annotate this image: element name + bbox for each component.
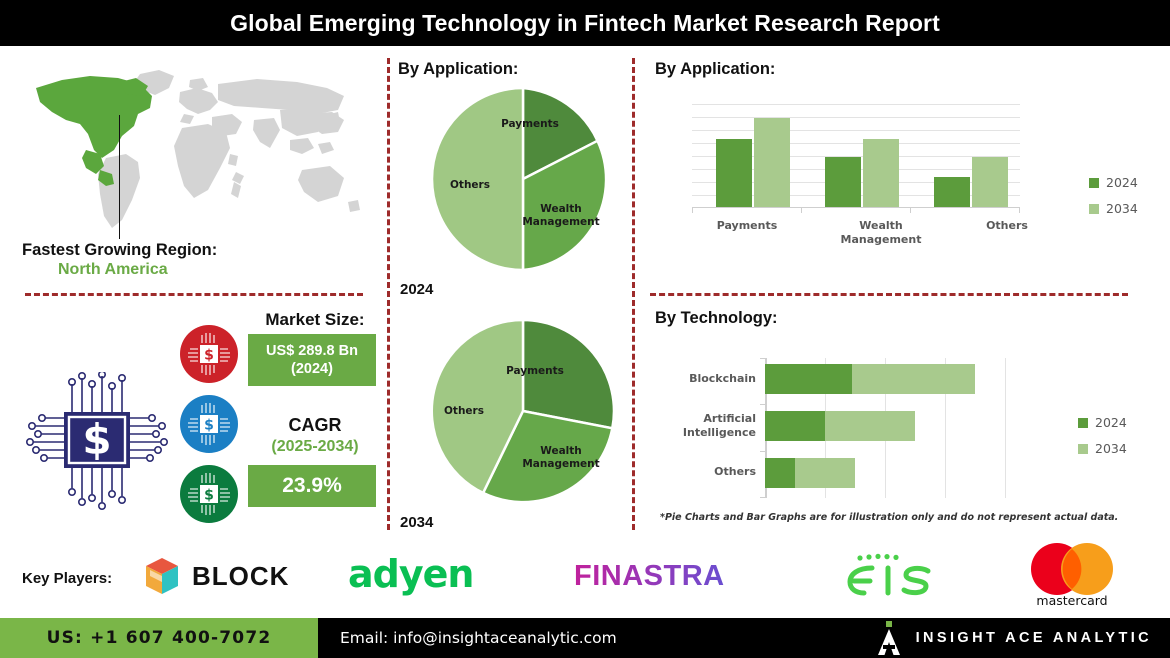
map-pointer-line xyxy=(119,115,120,239)
tech-2024-ai xyxy=(765,411,825,441)
finastra-logo-text: FINASTRA xyxy=(574,560,725,592)
page-title: Global Emerging Technology in Fintech Ma… xyxy=(0,0,1170,46)
footer-phone-block: US: +1 607 400-7072 xyxy=(0,618,318,658)
key-players-label: Key Players: xyxy=(22,570,112,587)
legend-item-2024: 2024 xyxy=(1089,175,1138,190)
bar-2024-payments xyxy=(716,139,752,207)
bar-tick xyxy=(1019,208,1020,213)
pie-2024-year: 2024 xyxy=(400,281,433,298)
chip-dollar-icon: $ xyxy=(12,372,182,512)
bar-2024-others xyxy=(934,177,970,207)
bar-tick xyxy=(801,208,802,213)
adyen-logo-text: adyen xyxy=(348,552,473,596)
logo-mastercard: mastercard xyxy=(1012,541,1132,613)
logo-finastra: FINASTRA xyxy=(574,560,725,593)
tech-cat-ai: Artificial Intelligence xyxy=(650,412,756,440)
tech-cat-others: Others xyxy=(650,465,756,479)
svg-text:$: $ xyxy=(82,415,111,464)
svg-text:$: $ xyxy=(204,348,214,364)
divider-horizontal-left xyxy=(25,293,363,296)
coin-icon-green: $ xyxy=(180,465,238,523)
infographic-page: Global Emerging Technology in Fintech Ma… xyxy=(0,0,1170,658)
footer-phone: US: +1 607 400-7072 xyxy=(47,628,272,648)
pie-section-heading: By Application: xyxy=(398,60,518,79)
tech-2034-blockchain xyxy=(852,364,975,394)
tech-tick xyxy=(760,497,765,498)
pie-2024-label-others: Others xyxy=(440,179,500,192)
tech-legend-item-2034: 2034 xyxy=(1078,441,1127,456)
bar-cat-payments: Payments xyxy=(692,219,802,233)
header-bar: Global Emerging Technology in Fintech Ma… xyxy=(0,0,1170,46)
tech-legend-label-2034: 2034 xyxy=(1095,441,1127,456)
tech-legend-swatch-2034 xyxy=(1078,444,1088,454)
pie-2034-label-payments: Payments xyxy=(500,365,570,378)
bar-cat-others: Others xyxy=(952,219,1062,233)
legend-label-2024: 2024 xyxy=(1106,175,1138,190)
tech-2034-ai xyxy=(825,411,915,441)
footer-email: Email: info@insightaceanalytic.com xyxy=(340,618,617,658)
tech-chart-legend: 2024 2034 xyxy=(1078,415,1127,467)
bar-chart-by-technology xyxy=(765,358,1023,498)
chart-footnote: *Pie Charts and Bar Graphs are for illus… xyxy=(660,512,1120,523)
fis-logo-icon xyxy=(836,552,946,600)
pie-2034-label-wealth: Wealth Management xyxy=(518,445,604,471)
insight-ace-logo-icon xyxy=(876,621,902,655)
pie-2034-label-others: Others xyxy=(434,405,494,418)
bar-cat-wealth: Wealth Management xyxy=(826,219,936,247)
fastest-growing-region: Fastest Growing Region: North America xyxy=(22,240,367,280)
mastercard-logo-text: mastercard xyxy=(1012,593,1132,608)
fastest-region-caption: Fastest Growing Region: xyxy=(22,240,367,260)
tech-legend-item-2024: 2024 xyxy=(1078,415,1127,430)
bar-2034-wealth xyxy=(863,139,899,207)
tech-row-others xyxy=(765,458,855,488)
coin-icon-blue: $ xyxy=(180,395,238,453)
tech-legend-swatch-2024 xyxy=(1078,418,1088,428)
market-size-label: Market Size: xyxy=(243,310,387,330)
divider-horizontal-right xyxy=(650,293,1128,296)
divider-vertical-left xyxy=(387,58,390,530)
tech-legend-label-2024: 2024 xyxy=(1095,415,1127,430)
footer-brand: INSIGHT ACE ANALYTIC xyxy=(876,618,1152,658)
svg-text:$: $ xyxy=(204,488,214,504)
fastest-region-name: North America xyxy=(22,260,367,280)
coin-icon-red: $ xyxy=(180,325,238,383)
market-size-value: US$ 289.8 Bn xyxy=(266,342,358,360)
legend-label-2034: 2034 xyxy=(1106,201,1138,216)
mastercard-logo-icon xyxy=(1012,541,1132,597)
tech-cat-blockchain: Blockchain xyxy=(650,372,756,386)
pie-2034-year: 2034 xyxy=(400,514,433,531)
tech-row-blockchain xyxy=(765,364,975,394)
pie-2024-label-wealth: Wealth Management xyxy=(518,203,604,229)
legend-swatch-2034 xyxy=(1089,204,1099,214)
market-size-year: (2024) xyxy=(291,360,333,378)
logo-adyen: adyen xyxy=(348,552,473,596)
bar-2024-wealth xyxy=(825,157,861,207)
logo-fis: FIS xyxy=(836,552,946,600)
bar-section-heading: By Application: xyxy=(655,60,775,79)
cagr-years: (2025-2034) xyxy=(243,438,387,456)
tech-tick xyxy=(760,451,765,452)
footer-bar: US: +1 607 400-7072 Email: info@insighta… xyxy=(0,618,1170,658)
bar-chart-legend: 2024 2034 xyxy=(1089,175,1138,227)
tech-tick xyxy=(760,358,765,359)
block-logo-text: BLOCK xyxy=(192,561,289,592)
bar-tick xyxy=(910,208,911,213)
market-size-value-box: US$ 289.8 Bn (2024) xyxy=(248,334,376,386)
legend-item-2034: 2034 xyxy=(1089,201,1138,216)
tech-section-heading: By Technology: xyxy=(655,309,778,328)
tech-2034-others xyxy=(795,458,855,488)
cagr-value-box: 23.9% xyxy=(248,465,376,507)
tech-row-ai xyxy=(765,411,915,441)
world-map xyxy=(22,62,367,237)
bar-2034-others xyxy=(972,157,1008,207)
bar-2034-payments xyxy=(754,118,790,207)
pie-2024-label-payments: Payments xyxy=(495,118,565,131)
legend-swatch-2024 xyxy=(1089,178,1099,188)
svg-text:$: $ xyxy=(204,418,214,434)
cagr-value: 23.9% xyxy=(282,474,342,498)
tech-2024-blockchain xyxy=(765,364,852,394)
bar-chart-by-application xyxy=(692,104,1020,208)
logo-block: BLOCK xyxy=(140,556,289,596)
cagr-label: CAGR xyxy=(243,415,387,436)
footer-brand-text: INSIGHT ACE ANALYTIC xyxy=(916,630,1152,646)
divider-vertical-right xyxy=(632,58,635,530)
tech-2024-others xyxy=(765,458,795,488)
bar-tick xyxy=(692,208,693,213)
tech-tick xyxy=(760,404,765,405)
block-logo-icon xyxy=(140,556,184,596)
